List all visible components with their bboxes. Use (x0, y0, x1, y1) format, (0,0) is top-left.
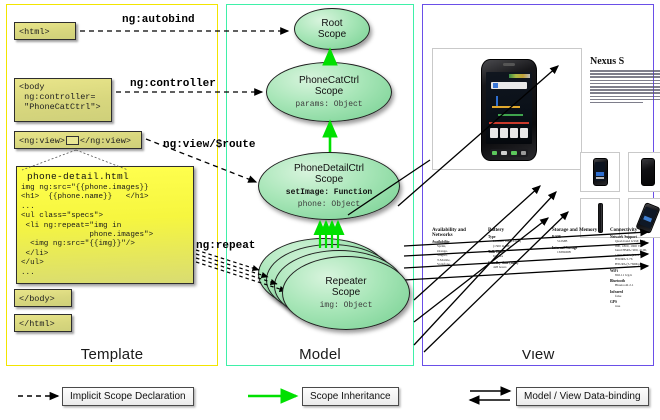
ngview-open-tag: <ng:view> (19, 136, 65, 146)
scope-root: RootScope (294, 8, 370, 50)
hero-image-frame (432, 48, 582, 170)
thumbnail-phone-back[interactable] (628, 152, 660, 192)
phone-search-bar (491, 82, 527, 88)
legend-item-model-view-data-binding: Model / View Data-binding (516, 387, 649, 406)
scope-repeater-name: RepeaterScope (325, 276, 366, 298)
legend-item-implicit-scope-declaration: Implicit Scope Declaration (62, 387, 194, 406)
panel-model-label: Model (227, 346, 413, 363)
ngview-close-tag: </ng:view> (80, 136, 131, 146)
thumbnail-phone-front[interactable] (580, 152, 620, 192)
scope-phonecatctrl-prop-params: params: Object (295, 100, 362, 109)
diagram-canvas: Template Model View <html> <body ng:cont… (0, 0, 660, 420)
phone-hero-image (481, 59, 537, 161)
scope-phonedetailctrl-name: PhoneDetailCtrlScope (294, 163, 364, 185)
view-product-description (590, 70, 660, 105)
code-box-html-open: <html> (14, 22, 76, 40)
scope-phonedetailctrl: PhoneDetailCtrlScope setImage: Function … (258, 152, 400, 220)
panel-template-label: Template (7, 346, 217, 363)
spec-column-storage: Storage and Memory RAM 512MB Internal St… (552, 228, 606, 254)
view-rendered-page: Nexus S (428, 10, 648, 350)
view-product-title: Nexus S (590, 56, 624, 67)
scope-repeater-prop-img: img: Object (320, 301, 373, 310)
spec-column-availability: Availability and Networks Availability S… (432, 228, 480, 267)
code-box-html-close: </html> (14, 314, 72, 332)
scope-phonecatctrl-name: PhoneCatCtrlScope (299, 75, 359, 97)
legend-item-scope-inheritance: Scope Inheritance (302, 387, 399, 406)
scope-root-name: RootScope (318, 18, 346, 40)
code-box-body-open: <body ng:controller= "PhoneCatCtrl"> (14, 78, 112, 122)
callout-code: img ng:src="{{phone.images}} <h1> {{phon… (17, 184, 193, 278)
spec-column-battery: Battery Type Lithium Ion (Li-Ion)(1500 m… (488, 228, 546, 269)
phone-screen (486, 72, 531, 144)
scope-repeater-stack: RepeaterScope img: Object (258, 238, 408, 334)
callout-title: phone-detail.html (17, 167, 193, 184)
scope-phonedetailctrl-prop-phone: phone: Object (298, 200, 360, 209)
scope-phonecatctrl: PhoneCatCtrlScope params: Object (266, 62, 392, 122)
spec-column-connectivity: Connectivity Network Support Quad-band G… (610, 228, 660, 309)
scope-repeater: RepeaterScope img: Object (282, 256, 410, 330)
callout-phone-detail: phone-detail.html img ng:src="{{phone.im… (16, 166, 194, 284)
scope-phonedetailctrl-prop-setimage: setImage: Function (286, 188, 372, 197)
spec-values-availability: Sprint,Orange,Singtel,T-Mobile,Vodafone (432, 244, 480, 267)
code-box-body-close: </body> (14, 289, 72, 307)
code-box-ngview: <ng:view></ng:view> (14, 131, 142, 149)
ngview-placeholder-icon (66, 136, 79, 145)
legend: Implicit Scope Declaration Scope Inherit… (0, 374, 660, 420)
